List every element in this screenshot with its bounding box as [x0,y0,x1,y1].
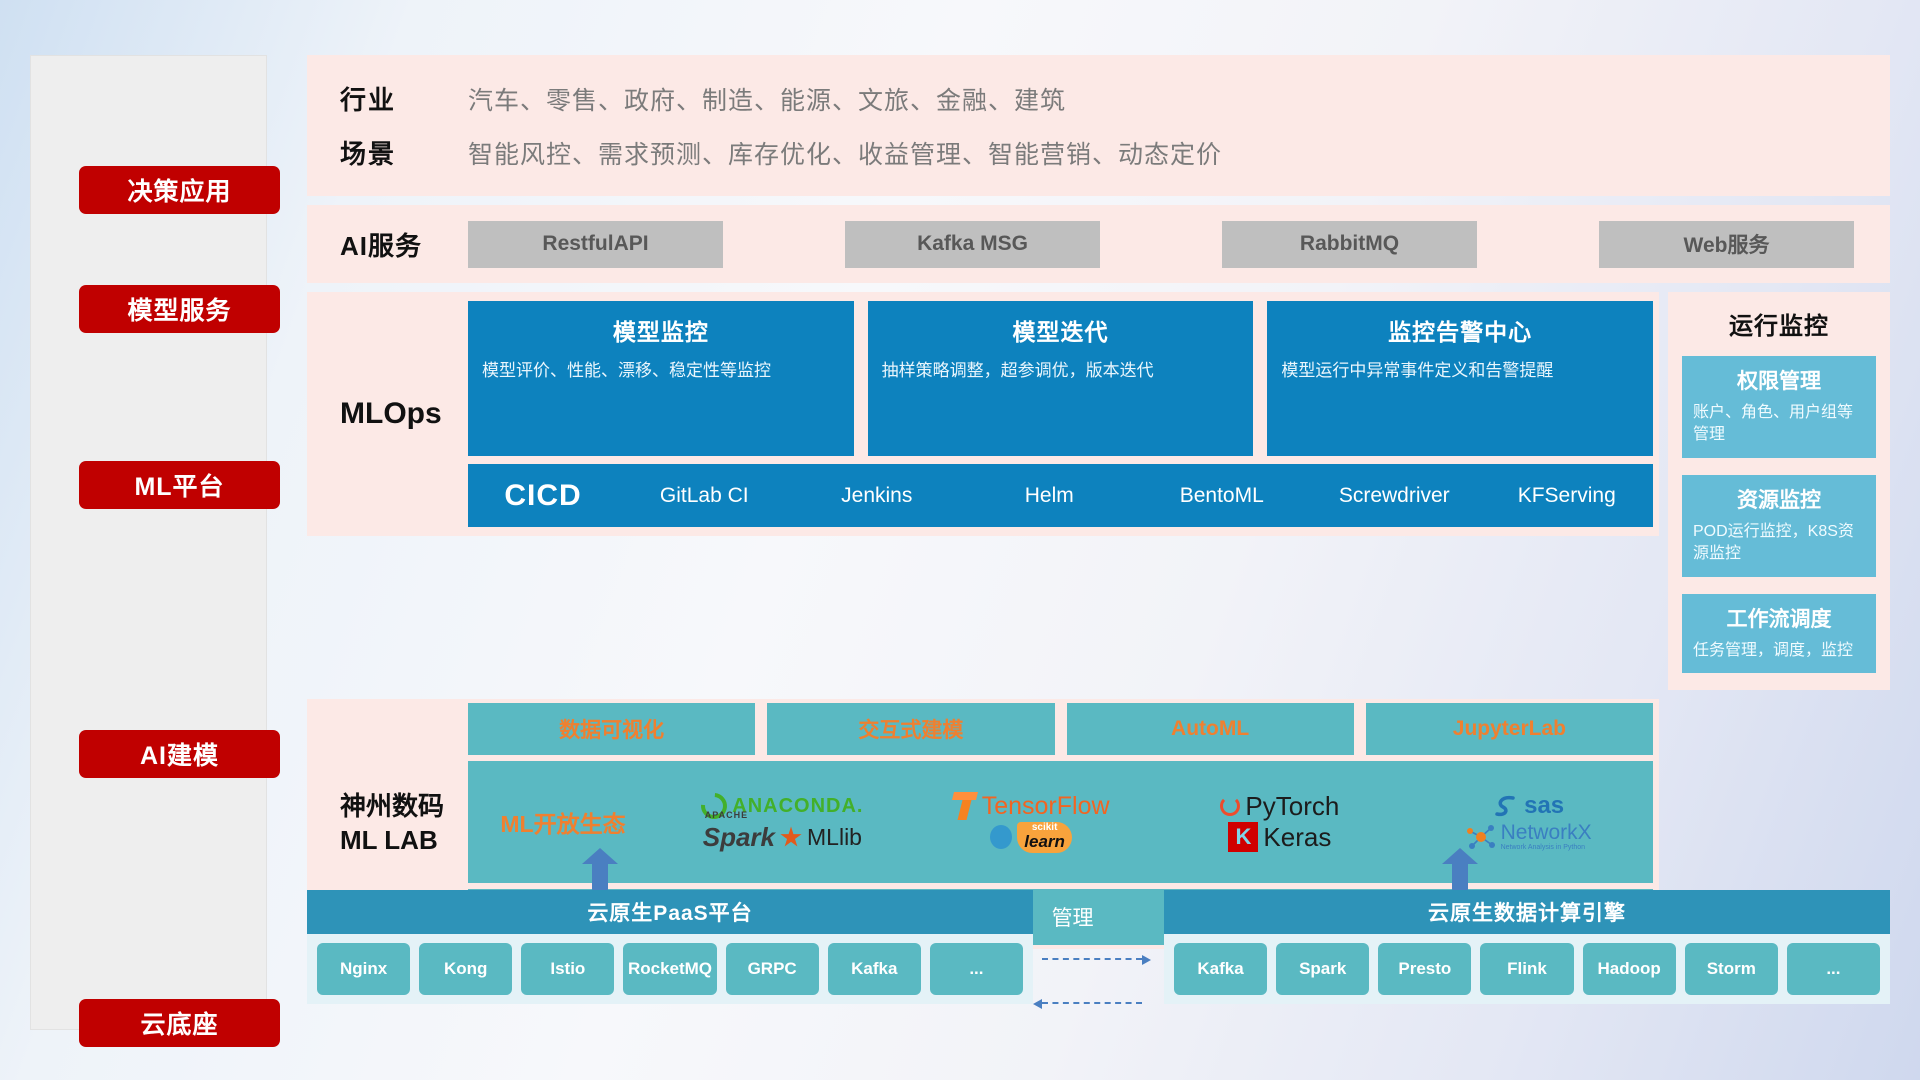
anaconda-logo-text: ANACONDA. [732,795,863,818]
ml-lab-label-line2: ML LAB [340,824,468,858]
stage-pill-ai-modeling[interactable]: AI建模 [79,730,280,778]
runtime-monitor-title: 运行监控 [1682,306,1876,341]
tool-chip-data-visualization[interactable]: 数据可视化 [468,703,755,755]
mlops-label: MLOps [340,397,468,431]
sas-logo-text: sas [1524,792,1564,820]
engine-chip-more[interactable]: ... [1787,943,1880,995]
mllib-wordmark: MLlib [807,824,862,851]
scikit-learn-pill: scikit learn [1017,822,1072,853]
ml-ecosystem-label: ML开放生态 [468,805,658,839]
stage-pill-ml-platform[interactable]: ML平台 [79,461,280,509]
mlops-card-alert-center[interactable]: 监控告警中心 模型运行中异常事件定义和告警提醒 [1267,301,1653,456]
card-title: 模型迭代 [882,313,1240,347]
mlops-band: MLOps 模型监控 模型评价、性能、漂移、稳定性等监控 模型迭代 抽样策略调整… [307,292,1659,536]
keras-logo: K Keras [1228,822,1331,853]
cicd-item-gitlab-ci[interactable]: GitLab CI [618,483,791,509]
cicd-item-screwdriver[interactable]: Screwdriver [1308,483,1481,509]
monitor-card-workflow[interactable]: 工作流调度 任务管理，调度，监控 [1682,594,1876,673]
monitor-card-permission[interactable]: 权限管理 账户、角色、用户组等管理 [1682,356,1876,458]
cloud-paas-box: 云原生PaaS平台 Nginx Kong Istio RocketMQ GRPC… [307,890,1033,1004]
arrow-up-to-engine-icon [1442,848,1478,890]
runtime-monitor-column: 运行监控 权限管理 账户、角色、用户组等管理 资源监控 POD运行监控，K8S资… [1668,292,1890,690]
cicd-item-kfserving[interactable]: KFServing [1481,483,1654,509]
cloud-engine-title: 云原生数据计算引擎 [1164,890,1890,934]
networkx-wordmark: NetworkX [1501,822,1592,843]
cloud-paas-title: 云原生PaaS平台 [307,890,1033,934]
networkx-logo: NetworkX Network Analysis in Python [1466,822,1592,852]
stage-pill-decision-app[interactable]: 决策应用 [79,166,280,214]
cicd-item-bentoml[interactable]: BentoML [1136,483,1309,509]
card-title: 权限管理 [1693,365,1865,395]
applications-band: 行业 汽车、零售、政府、制造、能源、文旅、金融、建筑 场景 智能风控、需求预测、… [307,55,1890,196]
learn-wordmark: learn [1024,833,1065,851]
stage-pill-model-service[interactable]: 模型服务 [79,285,280,333]
cicd-bar: CICD GitLab CI Jenkins Helm BentoML Scre… [468,464,1653,527]
scenario-row: 场景 智能风控、需求预测、库存优化、收益管理、智能营销、动态定价 [340,134,1890,171]
keras-k-icon: K [1228,822,1258,852]
arrow-right-paas-to-engine-icon [1042,958,1142,960]
spark-star-icon [780,826,802,848]
spark-mllib-logo: APACHE Spark MLlib [703,822,862,853]
diagram-canvas: 决策应用 模型服务 ML平台 AI建模 云底座 行业 汽车、零售、政府、制造、能… [0,0,1920,1080]
spark-wordmark: Spark [703,822,775,852]
engine-chip-spark[interactable]: Spark [1276,943,1369,995]
tensorflow-logo: TensorFlow [953,792,1110,821]
apache-wordmark: APACHE [705,810,748,820]
card-title: 工作流调度 [1693,603,1865,633]
keras-logo-text: Keras [1263,822,1331,853]
stage-rail: 决策应用 模型服务 ML平台 AI建模 云底座 [30,55,267,1030]
card-desc: 模型评价、性能、漂移、稳定性等监控 [482,359,840,384]
mlops-card-model-monitoring[interactable]: 模型监控 模型评价、性能、漂移、稳定性等监控 [468,301,854,456]
cicd-label: CICD [468,479,618,513]
arrow-left-engine-to-paas-icon [1042,1002,1142,1004]
pytorch-flame-icon [1220,796,1240,816]
sas-swirl-icon [1493,793,1519,819]
cicd-item-jenkins[interactable]: Jenkins [791,483,964,509]
ai-services-band: AI服务 RestfulAPI Kafka MSG RabbitMQ Web服务 [307,205,1890,283]
scikit-blob-icon [990,825,1012,849]
tool-chip-jupyterlab[interactable]: JupyterLab [1366,703,1653,755]
industry-label: 行业 [340,80,468,117]
tensorflow-logo-text: TensorFlow [982,792,1110,821]
scikit-learn-logo: scikit learn [990,822,1072,853]
main-stack: 行业 汽车、零售、政府、制造、能源、文旅、金融、建筑 场景 智能风控、需求预测、… [307,55,1890,949]
paas-chip-nginx[interactable]: Nginx [317,943,410,995]
paas-chip-more[interactable]: ... [930,943,1023,995]
mlops-and-monitor-row: MLOps 模型监控 模型评价、性能、漂移、稳定性等监控 模型迭代 抽样策略调整… [307,292,1890,690]
cloud-engine-box: 云原生数据计算引擎 Kafka Spark Presto Flink Hadoo… [1164,890,1890,1004]
ml-lab-label: 神州数码 ML LAB [340,790,468,858]
industry-values: 汽车、零售、政府、制造、能源、文旅、金融、建筑 [468,81,1066,117]
card-desc: 账户、角色、用户组等管理 [1693,402,1865,447]
tool-chip-interactive-modeling[interactable]: 交互式建模 [767,703,1054,755]
card-title: 监控告警中心 [1281,313,1639,347]
paas-chip-istio[interactable]: Istio [521,943,614,995]
stage-pill-cloud-base[interactable]: 云底座 [79,999,280,1047]
card-desc: 任务管理，调度，监控 [1693,640,1865,662]
monitor-card-resource[interactable]: 资源监控 POD运行监控，K8S资源监控 [1682,475,1876,577]
card-title: 模型监控 [482,313,840,347]
arrow-up-to-paas-icon [582,848,618,890]
service-chip-kafka-msg[interactable]: Kafka MSG [845,221,1100,268]
ml-lab-label-line1: 神州数码 [340,790,468,824]
engine-chip-storm[interactable]: Storm [1685,943,1778,995]
cicd-item-helm[interactable]: Helm [963,483,1136,509]
service-chip-rabbitmq[interactable]: RabbitMQ [1222,221,1477,268]
paas-chip-kafka[interactable]: Kafka [828,943,921,995]
cloud-foundation-row: 云原生PaaS平台 Nginx Kong Istio RocketMQ GRPC… [307,890,1890,1035]
pytorch-logo: PyTorch [1220,791,1339,822]
mlops-card-model-iteration[interactable]: 模型迭代 抽样策略调整，超参调优，版本迭代 [868,301,1254,456]
engine-chip-flink[interactable]: Flink [1480,943,1573,995]
engine-chip-hadoop[interactable]: Hadoop [1583,943,1676,995]
card-title: 资源监控 [1693,484,1865,514]
industry-row: 行业 汽车、零售、政府、制造、能源、文旅、金融、建筑 [340,80,1890,117]
engine-chip-presto[interactable]: Presto [1378,943,1471,995]
pytorch-logo-text: PyTorch [1245,791,1339,822]
paas-chip-kong[interactable]: Kong [419,943,512,995]
service-chip-restfulapi[interactable]: RestfulAPI [468,221,723,268]
paas-chip-rocketmq[interactable]: RocketMQ [623,943,716,995]
service-chip-web[interactable]: Web服务 [1599,221,1854,268]
networkx-tagline: Network Analysis in Python [1501,843,1592,852]
tool-chip-automl[interactable]: AutoML [1067,703,1354,755]
engine-chip-kafka[interactable]: Kafka [1174,943,1267,995]
card-desc: POD运行监控，K8S资源监控 [1693,521,1865,566]
card-desc: 抽样策略调整，超参调优，版本迭代 [882,359,1240,384]
scenario-label: 场景 [340,134,468,171]
paas-chip-grpc[interactable]: GRPC [726,943,819,995]
scenario-values: 智能风控、需求预测、库存优化、收益管理、智能营销、动态定价 [468,135,1222,171]
sas-logo: sas [1493,792,1564,820]
tensorflow-mark-icon [953,792,977,820]
card-desc: 模型运行中异常事件定义和告警提醒 [1281,359,1639,384]
ai-services-label: AI服务 [340,226,468,263]
